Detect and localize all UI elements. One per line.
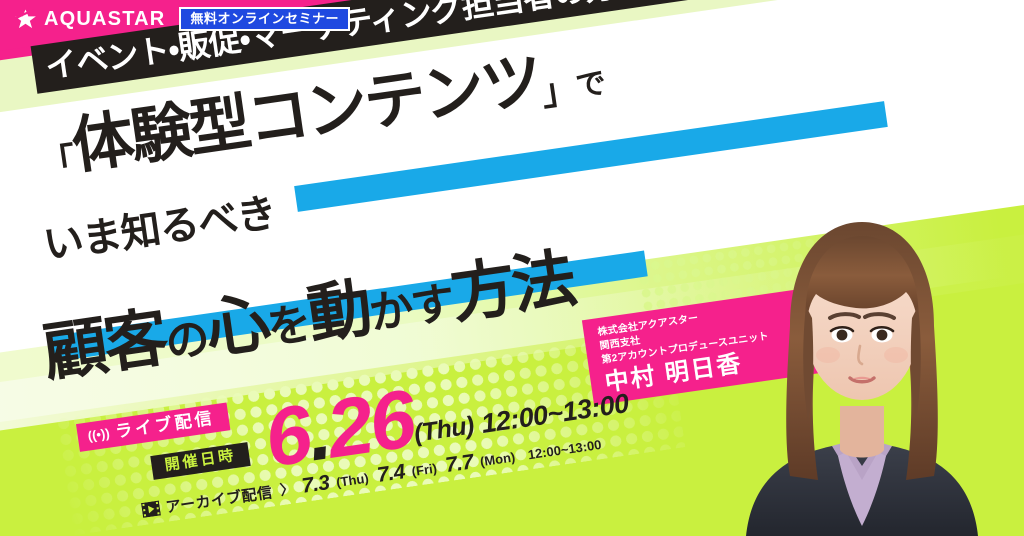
headline-line-3-g: 方法 [447,246,577,327]
broadcast-icon: ((•)) [87,427,111,443]
speaker-photo [728,174,996,536]
archive-date-2: 7.4 [376,460,407,488]
archive-arrow-icon: 〉 [277,478,298,500]
archive-date-1: 7.3 [300,471,331,499]
star-swoosh-icon [14,8,37,31]
archive-dow-1: (Thu) [334,470,372,490]
headline-line-3-e: 動 [304,276,374,348]
headline-line-3-a: 顧客 [39,305,169,386]
archive-dow-3: (Mon) [478,448,519,468]
headline-line-3-b: の [163,317,211,369]
brand-logo[interactable]: AQUASTAR [14,8,165,31]
headline-line-3-d: を [265,302,313,354]
archive-dow-2: (Fri) [410,460,441,479]
archive-date-3: 7.7 [444,450,475,478]
headline-line-3-c: 心 [202,290,272,362]
free-online-seminar-badge: 無料オンラインセミナー [179,7,350,31]
portrait-illustration [728,174,996,536]
headline-line-2-close: 」 [539,71,579,112]
headline-line-2-open: 「 [37,143,77,184]
seminar-banner: AQUASTAR 無料オンラインセミナー イベント・販促・マーケティング担当者の… [0,0,1024,536]
brand-name: AQUASTAR [44,8,165,31]
header-bar: AQUASTAR 無料オンラインセミナー [0,0,1024,38]
film-icon [141,500,161,517]
headline-line-2-tail: で [574,69,608,107]
